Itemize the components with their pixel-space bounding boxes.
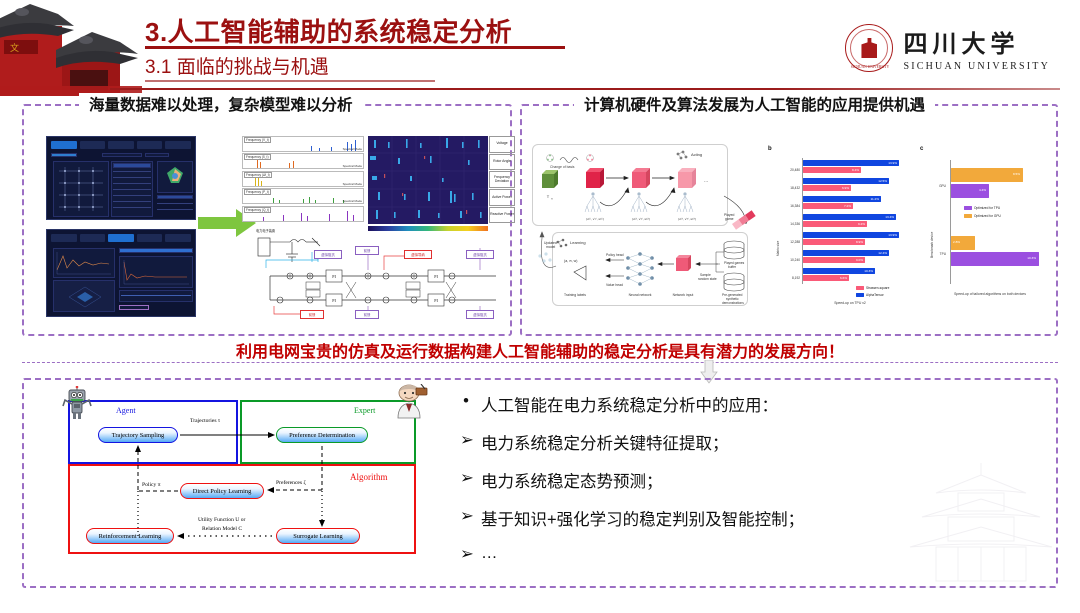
bullet-marker: ➢ — [460, 506, 472, 526]
chart-b-xlabel: Speed-up on TPU v2 — [790, 301, 910, 305]
page-subtitle-underline — [145, 80, 435, 82]
algorithm-label: Algorithm — [350, 472, 388, 482]
heatmap-row-labels: Voltage Rotor Angle Frequency Deviation … — [489, 136, 515, 224]
svg-text:文: 文 — [10, 42, 19, 54]
bar-strassen: 9.0% — [803, 257, 865, 263]
y-tick: 12,288 — [774, 240, 800, 244]
heatmap-label: Voltage — [489, 136, 515, 153]
stability-analysis-dashboard-dark — [46, 229, 196, 317]
slide-root: 文 3.人工智能辅助的系统稳定分析 3.1 面临的挑战与机遇 SICHUAN U… — [0, 0, 1080, 608]
svg-text:(u⁽³⁾, v⁽³⁾, w⁽³⁾): (u⁽³⁾, v⁽³⁾, w⁽³⁾) — [678, 217, 696, 221]
chinese-pavilion-decoration: 文 — [0, 0, 142, 96]
circuit-block: 前馈 — [300, 310, 324, 319]
bar-strassen: 9.2% — [803, 221, 867, 227]
expert-label: Expert — [354, 406, 375, 415]
pagoda-watermark-icon — [896, 453, 1066, 608]
spectrum-row: Frequency (V_t) Spectral Mode — [242, 136, 364, 152]
bar-alphatensor: 10.3% — [803, 268, 875, 274]
page-subtitle: 3.1 面临的挑战与机遇 — [145, 52, 329, 79]
bar-alphatensor: 11.2% — [803, 196, 881, 202]
bar-strassen: 8.4% — [803, 167, 861, 173]
svg-text:buffer: buffer — [728, 265, 737, 269]
bar-alphatensor: 13.9% — [803, 160, 899, 166]
edge-utility: Utility Function U or — [198, 517, 245, 523]
svg-text:Learning: Learning — [570, 240, 586, 245]
list-item: • 人工智能在电力系统稳定分析中的应用： — [460, 392, 930, 416]
circuit-block: 前馈 — [355, 246, 379, 255]
y-tick: 20,480 — [774, 168, 800, 172]
key-statement: 利用电网宝贵的仿真及运行数据构建人工智能辅助的稳定分析是具有潜力的发展方向！ — [0, 338, 1080, 362]
logo-chinese-name: 四川大学 — [903, 24, 1050, 59]
bar-alphatensor: 13.9% — [803, 232, 899, 238]
chart-tailored-algorithms: c Benchmark device GPU 8.5% 4.4% TPU 2.8… — [920, 146, 1056, 308]
y-tick: 16,384 — [774, 204, 800, 208]
application-bullet-list: • 人工智能在电力系统稳定分析中的应用： ➢ 电力系统稳定分析关键特征提取； ➢… — [460, 392, 930, 578]
chart-speedup-tpu: b Matrix size 20,480 13.9% 8.4% 18,432 1… — [768, 146, 914, 308]
spectrogram-heatmap — [368, 136, 488, 224]
chart-c-xlabel: Speed-up of tailored algorithms on both … — [934, 292, 1046, 296]
y-tick: 14,336 — [774, 222, 800, 226]
legend-optimized-tpu: Optimized for TPU — [964, 206, 1000, 210]
svg-text:Policy head: Policy head — [606, 253, 624, 257]
svg-text:(u⁽¹⁾, v⁽¹⁾, w⁽¹⁾): (u⁽¹⁾, v⁽¹⁾, w⁽¹⁾) — [586, 217, 604, 221]
panel-challenges-title: 海量数据难以处理，复杂模型难以分析 — [79, 93, 363, 115]
y-tick: 18,432 — [774, 186, 800, 190]
header-divider — [110, 88, 1060, 90]
alphatensor-architecture-diagram: Acting Change of basis T n — [528, 140, 766, 308]
svg-text:T: T — [547, 194, 550, 199]
sichuan-university-seal-icon: SICHUAN UNIVERSITY — [845, 24, 893, 72]
list-item: ➢ 电力系统稳定分析关键特征提取； — [460, 430, 930, 454]
power-electronics-control-diagram: 电力电子装置 — [256, 228, 508, 320]
spectrum-row: Frequency (P_t) Spectral Mode — [242, 188, 364, 204]
bar-optimized-gpu: 8.5% — [951, 168, 1023, 182]
edge-trajectories: Trajectories τ — [190, 418, 220, 424]
circuit-block: 虚拟导纳 — [404, 250, 432, 259]
bullet-text: 电力系统稳定态势预测； — [481, 468, 663, 492]
power-system-dashboard-dark — [46, 136, 196, 220]
svg-text:(a, π, w): (a, π, w) — [564, 259, 577, 263]
bar-alphatensor: 12.5% — [803, 178, 889, 184]
edge-preferences: Preferences ζ — [276, 480, 306, 486]
bar-strassen: 6.6% — [803, 275, 849, 281]
spectrum-row: Frequency (Q_t) — [242, 206, 364, 222]
y-tick: TPU — [924, 252, 946, 256]
bar-optimized-tpu: 4.4% — [951, 184, 989, 198]
svg-text:demonstrations: demonstrations — [722, 301, 744, 305]
legend-alphatensor: AlphaTensor — [856, 293, 884, 297]
legend-strassen: Strassen-square — [856, 286, 889, 290]
edge-policy: Policy π — [142, 482, 161, 488]
node-reinforcement-learning[interactable]: Reinforcement Learning — [86, 528, 174, 544]
circuit-block: 前馈 — [355, 310, 379, 319]
bullet-marker: ➢ — [460, 468, 472, 488]
bullet-marker: • — [460, 392, 472, 411]
frequency-spectra-plots: Frequency (V_t) Spectral Mode Frequency … — [242, 136, 364, 222]
svg-text:random state: random state — [698, 277, 717, 281]
svg-text:Neural network: Neural network — [629, 293, 652, 297]
agent-expert-algorithm-diagram: Agent Expert Algorithm Trajectory Sampli… — [64, 390, 440, 562]
panel-opportunities-title: 计算机硬件及算法发展为人工智能的应用提供机遇 — [574, 93, 935, 115]
bar-strassen: 7.2% — [803, 203, 853, 209]
spectrum-row: Frequency (Δf_t) Spectral Mode — [242, 171, 364, 187]
heatmap-label: Active Power — [489, 189, 515, 206]
bullet-text: 基于知识+强化学习的稳定判别及智能控制； — [481, 506, 804, 530]
panel-letter-b: b — [768, 146, 772, 152]
legend-optimized-gpu: Optimized for GPU — [964, 214, 1001, 218]
y-tick: 8,192 — [774, 276, 800, 280]
svg-text:...: ... — [704, 178, 708, 184]
university-logo: SICHUAN UNIVERSITY 四川大学 SICHUAN UNIVERSI… — [845, 24, 1050, 72]
svg-text:Network input: Network input — [673, 293, 694, 297]
heatmap-label: Frequency Deviation — [489, 171, 515, 188]
svg-text:n: n — [551, 197, 553, 201]
bullet-text: … — [481, 544, 498, 563]
page-title: 3.人工智能辅助的系统稳定分析 — [145, 12, 512, 49]
heatmap-label: Reactive Power — [489, 207, 515, 224]
svg-text:Change of basis: Change of basis — [550, 165, 575, 169]
bar-optimized-gpu: 2.8% — [951, 236, 975, 250]
y-tick: 10,240 — [774, 258, 800, 262]
node-surrogate-learning[interactable]: Surrogate Learning — [276, 528, 360, 544]
logo-english-name: SICHUAN UNIVERSITY — [903, 61, 1050, 72]
bar-strassen: 8.9% — [803, 239, 865, 245]
y-tick: GPU — [924, 184, 946, 188]
agent-label: Agent — [116, 406, 136, 415]
svg-text:Value head: Value head — [606, 283, 623, 287]
bar-strassen: 6.9% — [803, 185, 851, 191]
node-preference-determination[interactable]: Preference Determination — [276, 427, 368, 443]
bullet-marker: ➢ — [460, 544, 472, 564]
svg-text:Training labels: Training labels — [564, 293, 586, 297]
robot-avatar-icon — [62, 386, 92, 420]
panel-letter-c: c — [920, 146, 923, 152]
bullet-text: 电力系统稳定分析关键特征提取； — [481, 430, 729, 454]
circuit-block: 虚拟阻抗 — [314, 250, 342, 259]
svg-text:model: model — [546, 245, 555, 249]
edge-relation: Relation Model C — [202, 526, 242, 532]
svg-text:(u⁽²⁾, v⁽²⁾, w⁽²⁾): (u⁽²⁾, v⁽²⁾, w⁽²⁾) — [632, 217, 650, 221]
bullet-text: 人工智能在电力系统稳定分析中的应用： — [481, 392, 778, 416]
bar-alphatensor: 12.4% — [803, 250, 889, 256]
list-item: ➢ 电力系统稳定态势预测； — [460, 468, 930, 492]
mid-divider — [22, 362, 1058, 363]
svg-text:Acting: Acting — [691, 152, 702, 157]
circuit-block: 虚拟阻抗 — [466, 310, 494, 319]
svg-text:game: game — [725, 217, 734, 221]
list-item: ➢ … — [460, 544, 930, 564]
svg-text:SICHUAN UNIVERSITY: SICHUAN UNIVERSITY — [851, 65, 890, 69]
bar-optimized-tpu: 10.3% — [951, 252, 1039, 266]
circuit-block: 虚拟阻抗 — [466, 250, 494, 259]
list-item: ➢ 基于知识+强化学习的稳定判别及智能控制； — [460, 506, 930, 530]
spectrum-row: Frequency (δ_t) Spectral Mode — [242, 153, 364, 169]
expert-person-avatar-icon — [392, 384, 432, 420]
node-direct-policy-learning[interactable]: Direct Policy Learning — [180, 483, 264, 499]
heatmap-label: Rotor Angle — [489, 154, 515, 171]
bar-alphatensor: 13.4% — [803, 214, 896, 220]
node-trajectory-sampling[interactable]: Trajectory Sampling — [98, 427, 178, 443]
bullet-marker: ➢ — [460, 430, 472, 450]
page-title-underline — [145, 46, 565, 49]
